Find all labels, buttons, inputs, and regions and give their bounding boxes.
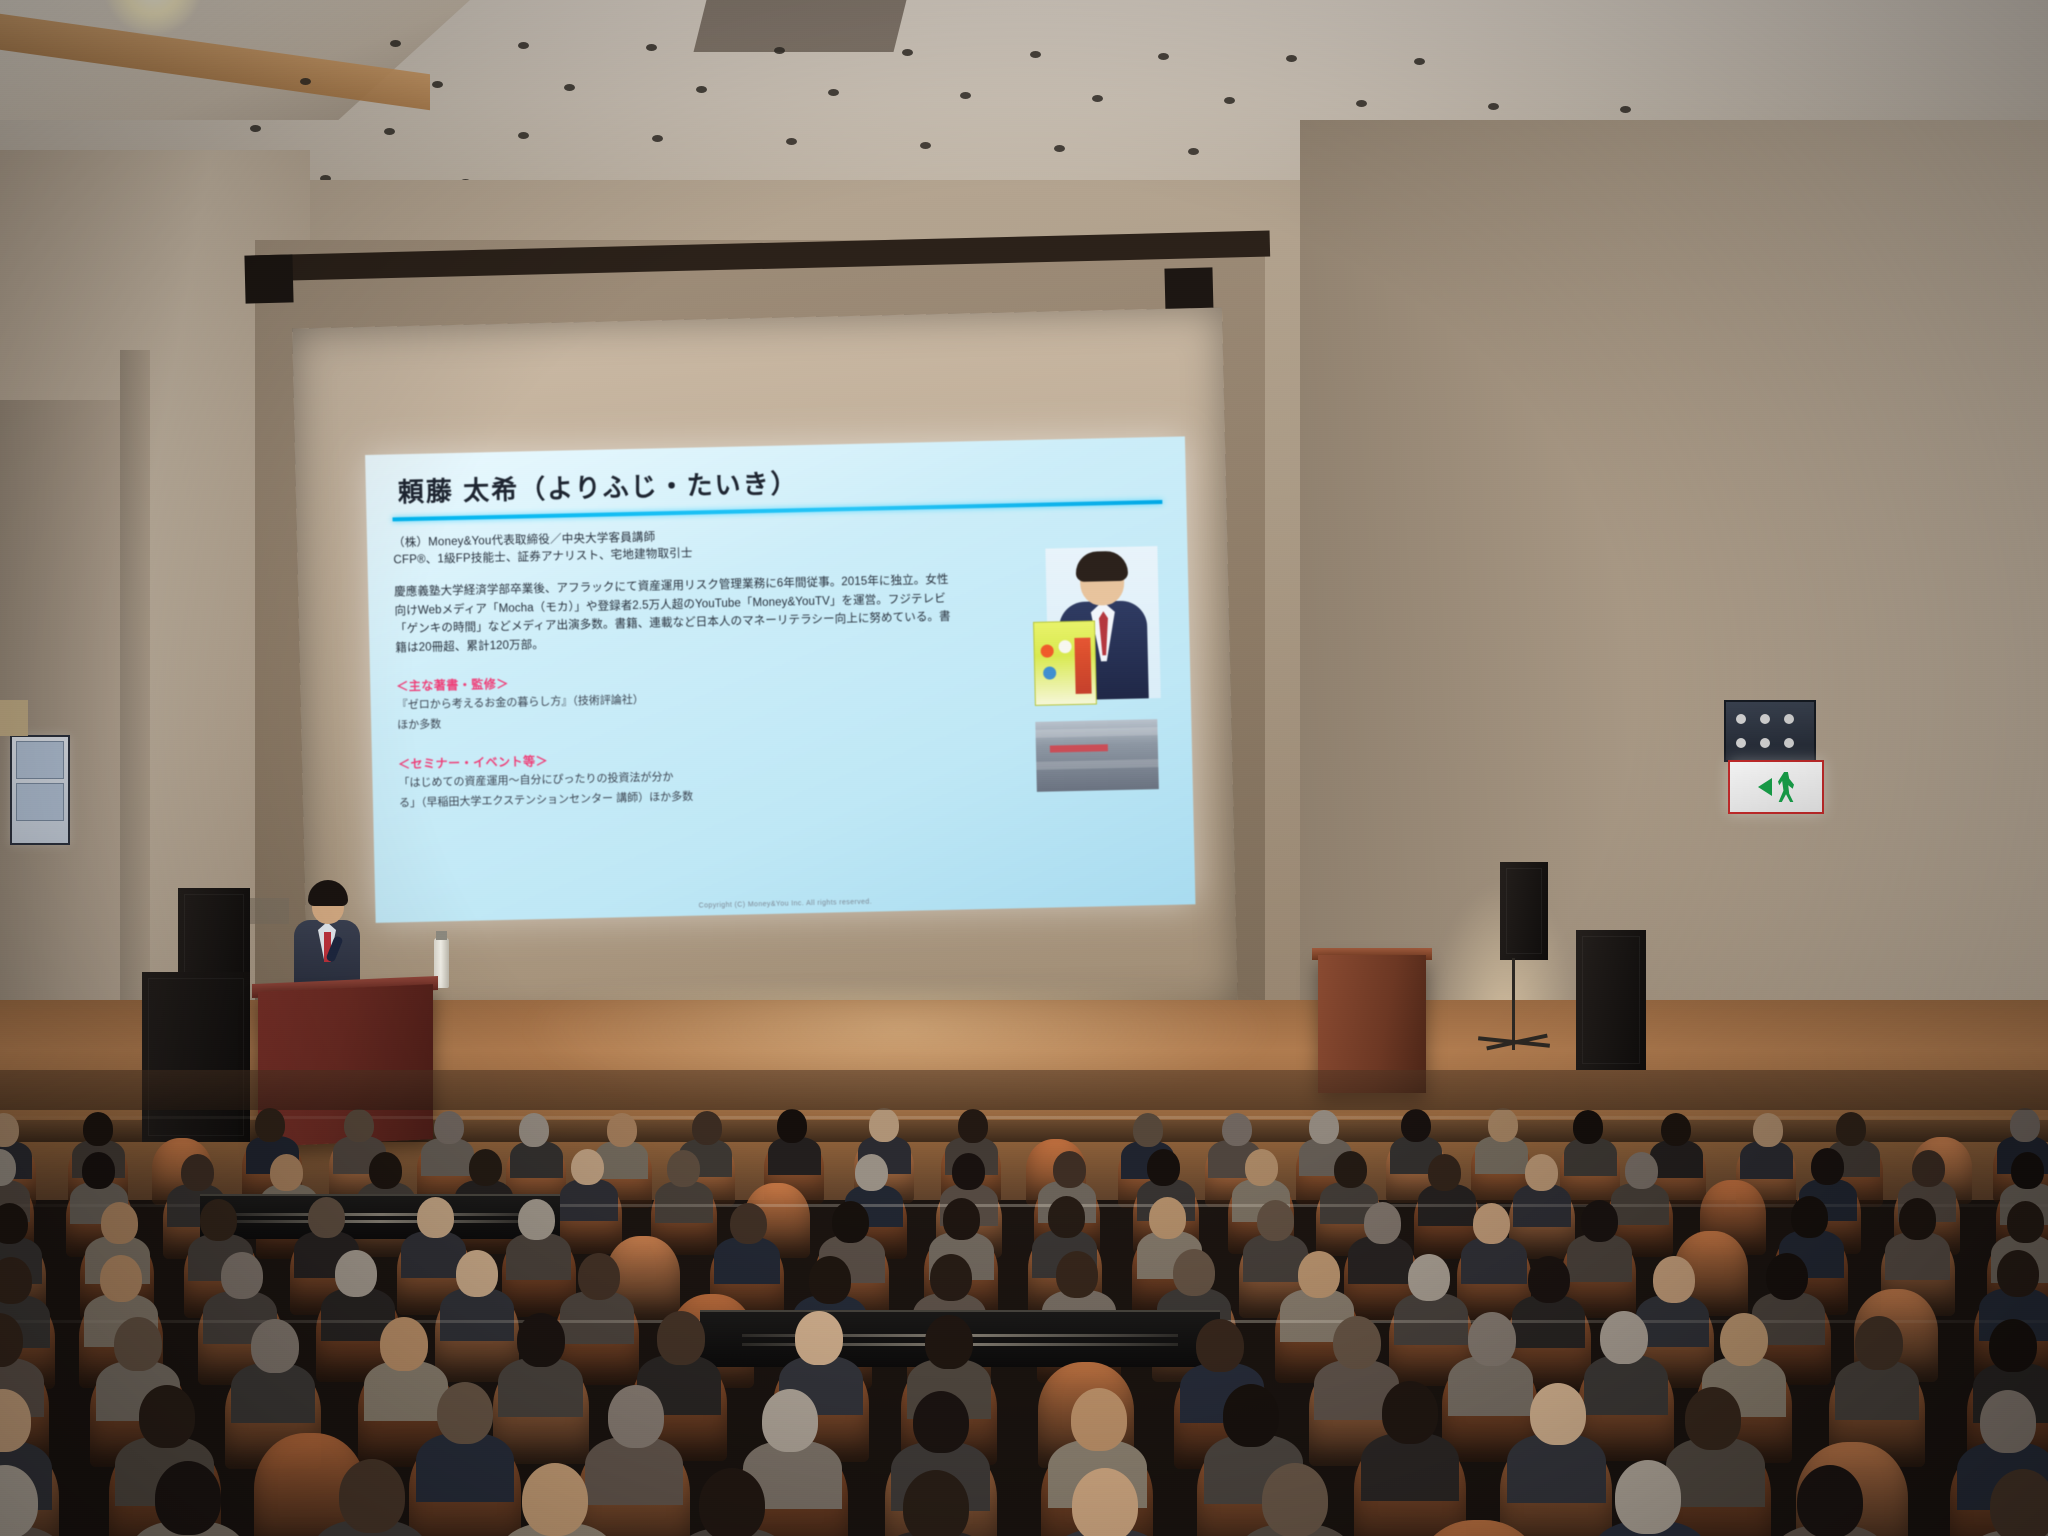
alarm-led-1 [1736,714,1746,724]
audience-member-head [1382,1381,1438,1444]
audience-member-head [1223,1384,1279,1447]
audience-member-head [1309,1110,1339,1144]
audience-member-head [1428,1154,1461,1191]
screen-mount-left [244,254,293,303]
audience-member-head [1071,1388,1127,1451]
audience-member-head [221,1252,263,1299]
audience-member-head [251,1319,299,1373]
audience-member-head [1811,1148,1844,1185]
ceiling-downlight [696,86,707,93]
audience-member-head [667,1150,700,1187]
audience-member-head [308,1197,345,1238]
ceiling-downlight [1620,106,1631,113]
stage-wall-vent [245,898,289,924]
audience-member-head [519,1113,549,1147]
book-dot-2 [1058,640,1071,653]
audience-member-head [1573,1110,1603,1144]
audience-member-head [1048,1196,1085,1237]
speaker-bio: 慶應義塾大学経済学部卒業後、アフラックにて資産運用リスク管理業務に6年間従事。2… [394,571,956,658]
right-wall [1300,120,2048,1080]
audience-member-head [1912,1150,1945,1187]
control-panel-left-wall[interactable] [10,735,70,845]
audience-seating [0,1070,2048,1536]
book-cover-thumbnail [1033,620,1097,705]
audience-member-head [1990,1469,2048,1536]
ceiling-downlight [1188,148,1199,155]
audience-member-head [1720,1313,1768,1367]
audience-member-head [1899,1198,1936,1239]
ceiling-downlight [432,81,443,88]
book-dot-3 [1043,666,1056,679]
ceiling-downlight [518,42,529,49]
audience-member-head [1980,1390,2036,1453]
alarm-led-6 [1784,738,1794,748]
ceiling-downlight [1054,145,1065,152]
ceiling-downlight [1488,103,1499,110]
audience-member-head [380,1317,428,1371]
ceiling-downlight [1224,97,1235,104]
audience-member-head [1855,1316,1903,1370]
aisle-floor [0,1070,2048,1110]
panel-row [16,741,64,779]
audience-member-head [1408,1254,1450,1301]
audience-member-head [1333,1316,1381,1370]
audience-member-head [369,1152,402,1189]
audience-member-head [571,1149,604,1186]
audience-member-head [469,1149,502,1186]
audience-member-head [869,1108,899,1142]
audience-member-head [832,1201,869,1242]
ceiling-downlight [384,128,395,135]
audience-member-head [1147,1149,1180,1186]
audience-member-shoulders [421,1138,474,1176]
audience-member-head [114,1317,162,1371]
audience-member-head [518,1199,555,1240]
book-title-band [1074,637,1091,693]
audience-member-head [1364,1202,1401,1243]
alarm-led-2 [1760,714,1770,724]
slide-copyright: Copyright (C) Money&You Inc. All rights … [375,891,1195,917]
audience-member-head [1149,1197,1186,1238]
event-photo-banner [1050,744,1108,752]
audience-member-head [608,1385,664,1448]
audience-member-head [200,1199,237,1240]
exit-arrow-icon [1758,778,1772,796]
ceiling-downlight [1092,95,1103,102]
ceiling-downlight [774,47,785,54]
audience-member-head [1989,1319,2037,1373]
ceiling-downlight [250,125,261,132]
console-slot [229,1213,531,1216]
audience-member-head [1753,1113,1783,1147]
audience-member-head [1530,1383,1586,1446]
audience-member-head [1600,1311,1648,1365]
console-slot [229,1220,531,1223]
audience-member-head [1525,1154,1558,1191]
audience-member-head [155,1461,221,1535]
alarm-panel-right-wall[interactable] [1724,700,1816,762]
audience-member-head [1625,1152,1658,1189]
audience-member-head [699,1468,765,1536]
audience-member-head [2007,1201,2044,1242]
audience-member-head [270,1154,303,1191]
ceiling-downlight [786,138,797,145]
audience-member-head [1334,1151,1367,1188]
audience-member-head [1257,1200,1294,1241]
slide-body: （株）Money&You代表取締役／中央大学客員講師 CFP®、1級FP技能士、… [393,518,1169,812]
audience-member-head [777,1109,807,1143]
audience-member-head [762,1389,818,1452]
pa-speaker-right-lower [1576,930,1646,1070]
audience-member-head [1053,1151,1086,1188]
audience-member-head [1473,1203,1510,1244]
water-bottle-cap [436,931,447,940]
audience-member-head [730,1203,767,1244]
speaker-stand-pole [1512,958,1515,1050]
slide-text-column: （株）Money&You代表取締役／中央大学客員講師 CFP®、1級FP技能士、… [393,523,956,658]
audience-member-head [1836,1112,1866,1146]
audience-member-head [1298,1251,1340,1298]
ceiling-downlight [646,44,657,51]
speaker-grill [1506,868,1542,954]
audience-member-head [1262,1463,1328,1536]
audience-member-head [809,1256,851,1303]
audience-member-head [434,1111,464,1145]
audience-member-head [943,1198,980,1239]
ceiling-downlight [564,84,575,91]
audience-member-head [958,1109,988,1143]
event-photo-band-2 [1036,759,1158,770]
audience-member-head [1072,1468,1138,1536]
projection-screen: 頼藤 太希（よりふじ・たいき） （株）Money&You代表取締役／中央大学客員… [292,308,1238,1029]
audience-member-shoulders [560,1179,618,1221]
audience-member-head [1245,1149,1278,1186]
ceiling-downlight [652,135,663,142]
event-photo-band-1 [1035,727,1157,738]
emergency-exit-sign [1728,760,1824,814]
audience-member-head [181,1154,214,1191]
audience-member-head [1528,1256,1570,1303]
ceiling-downlight [1158,53,1169,60]
pa-speaker-right-upper [1500,862,1548,960]
ceiling-downlight [902,49,913,56]
audience-member-head [456,1250,498,1297]
audience-member-head [952,1153,985,1190]
av-control-desk [200,1194,560,1239]
audience-member-head [417,1197,454,1238]
ceiling-downlight [300,78,311,85]
slide-title: 頼藤 太希（よりふじ・たいき） [391,455,1162,509]
running-person-icon [1778,772,1794,802]
audience-member-head [578,1253,620,1300]
presentation-slide: 頼藤 太希（よりふじ・たいき） （株）Money&You代表取締役／中央大学客員… [365,436,1195,922]
audience-member-head [1173,1249,1215,1296]
audience-member-head [2011,1152,2044,1189]
audience-member-head [437,1382,493,1445]
ceiling-downlight [828,89,839,96]
audience-member-head [2010,1108,2040,1142]
audience-member-head [1797,1465,1863,1536]
wall-marker-left [0,700,28,736]
book-dot-1 [1041,644,1054,657]
audience-member-head [100,1255,142,1302]
audience-member-head [83,1112,113,1146]
audience-member-head [692,1111,722,1145]
audience-member-head [913,1391,969,1454]
audience-member-head [1791,1196,1828,1237]
audience-member-head [1581,1200,1618,1241]
ceiling-downlight [1414,58,1425,65]
audience-member-head [1056,1251,1098,1298]
audience-member-head [1196,1319,1244,1373]
audience-member-head [1997,1250,2039,1297]
audience-member-head [101,1202,138,1243]
audience-member-head [1133,1113,1163,1147]
audience-member-head [1468,1312,1516,1366]
ceiling-vent [694,0,907,52]
audience-member-head [335,1250,377,1297]
ceiling-downlight [920,142,931,149]
alarm-led-5 [1760,738,1770,748]
audience-member-head [139,1385,195,1448]
audience-member-head [517,1313,565,1367]
audience-member-head [795,1311,843,1365]
audience-member-head [82,1152,115,1189]
audience-member-head [1661,1113,1691,1147]
seat-row-rail [0,1116,2048,1119]
ceiling-downlight [518,132,529,139]
alarm-led-4 [1736,738,1746,748]
event-photo-thumbnail [1035,719,1159,792]
audience-member-head [657,1311,705,1365]
audience-member-head [344,1109,374,1143]
audience-member-head [930,1254,972,1301]
audience-member-head [1401,1109,1431,1143]
ceiling-downlight [390,40,401,47]
presenter-hair [308,880,348,906]
auditorium-scene: 頼藤 太希（よりふじ・たいき） （株）Money&You代表取締役／中央大学客員… [0,0,2048,1536]
audience-member-head [1488,1108,1518,1142]
audience-member-head [1653,1256,1695,1303]
panel-row [16,783,64,821]
audience-member-head [855,1154,888,1191]
audience-member-head [1615,1460,1681,1534]
audience-member-head [1766,1253,1808,1300]
audience-member-head [1685,1387,1741,1450]
alarm-led-3 [1784,714,1794,724]
ceiling-downlight [1356,100,1367,107]
audience-member-head [522,1463,588,1536]
speaker-grill [1582,936,1640,1064]
audience-member-head [339,1459,405,1533]
audience-member-head [607,1113,637,1147]
audience-member-head [255,1108,285,1142]
ceiling-downlight [960,92,971,99]
ceiling-downlight [1030,51,1041,58]
audience-member-head [925,1315,973,1369]
audience-member-head [1222,1113,1252,1147]
ceiling-downlight [1286,55,1297,62]
portrait-hair [1075,551,1128,582]
